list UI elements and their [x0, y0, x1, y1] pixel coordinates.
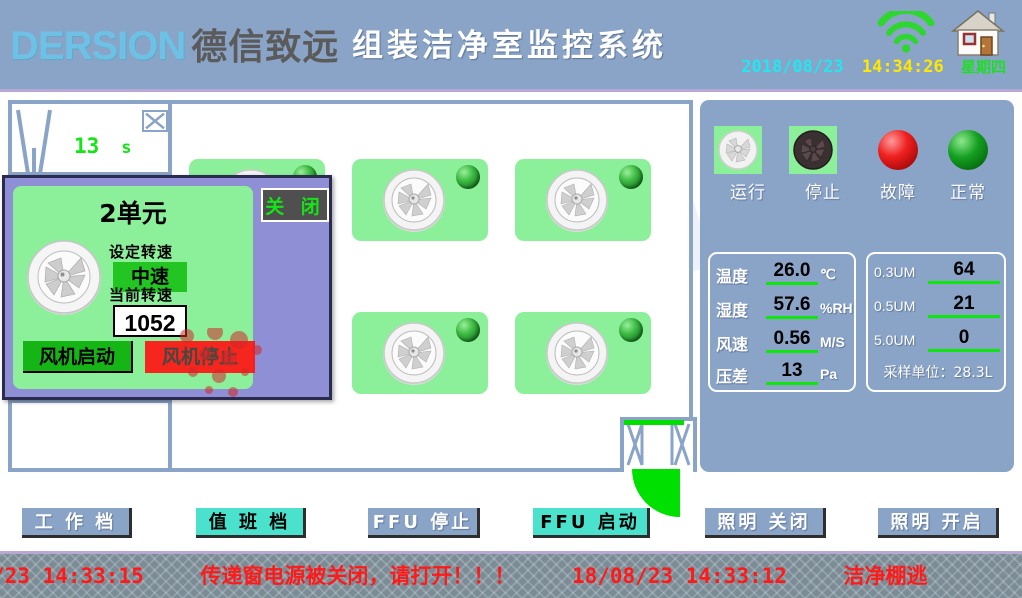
particle-label: 0.3UM [874, 264, 915, 280]
close-button[interactable]: 关 闭 [261, 188, 329, 222]
particle-value: 0 [928, 327, 1000, 352]
legend-item-stopped: 停止 [789, 126, 857, 203]
set-speed-label: 设定转速 [109, 241, 173, 262]
fan-dark-icon [789, 126, 837, 174]
lighting-on-button[interactable]: 照明 开启 [878, 508, 999, 538]
legend-label: 故障 [864, 178, 932, 203]
ffu-unit-2[interactable] [352, 159, 488, 241]
alarm-ticker[interactable]: /23 14:33:15 传递窗电源被关闭，请打开！！！ 18/08/23 14… [0, 551, 1022, 598]
brand-logo-cn: 德信致远 [191, 18, 339, 70]
door-leaf-icon [624, 421, 693, 468]
anteroom-bottom-left [12, 399, 172, 472]
countdown-value: 13 [74, 134, 99, 158]
fan-start-button[interactable]: 风机启动 [23, 341, 133, 373]
door-open-indicator [624, 420, 684, 425]
reading-row: 湿度 57.6 %RH [710, 292, 854, 326]
dialog-title: 2单元 [13, 194, 253, 230]
particle-value: 21 [928, 293, 1000, 318]
reading-label: 风速 [716, 331, 748, 355]
reading-label: 温度 [716, 263, 748, 287]
clock: 2018/08/23 14:34:26 星期四 [741, 56, 1006, 77]
particle-row: 5.0UM 0 [868, 326, 1004, 359]
ffu-unit-5[interactable] [352, 312, 488, 394]
environment-readings: 温度 26.0 ℃ 湿度 57.6 %RH 风速 0.56 M/S 压差 13 … [708, 252, 856, 392]
reading-row: 压差 13 Pa [710, 358, 854, 392]
brand-logo-en: DERSION [10, 24, 185, 69]
fan-icon [378, 164, 450, 236]
hmi-screen: DERSION 德信致远 组装洁净室监控系统 2018/08/23 14:34:… [0, 0, 1022, 598]
ffu-stop-button[interactable]: FFU 停止 [368, 508, 480, 538]
particle-label: 5.0UM [874, 332, 915, 348]
reading-value: 13 [766, 360, 818, 385]
fan-stop-button[interactable]: 风机停止 [145, 341, 255, 373]
fan-icon [541, 317, 613, 389]
particle-row: 0.3UM 64 [868, 258, 1004, 291]
legend-item-fault: 故障 [864, 126, 932, 203]
current-speed-row: 当前转速 1052 [109, 284, 253, 337]
lamp-red-icon [878, 130, 918, 170]
reading-row: 温度 26.0 ℃ [710, 258, 854, 292]
page-title: 组装洁净室监控系统 [352, 20, 667, 65]
dialog-body: 2单元 设定转速 中速 当前转速 1052 [13, 186, 253, 389]
reading-label: 压差 [716, 363, 748, 387]
reading-value: 26.0 [766, 260, 818, 285]
legend-label: 正常 [934, 178, 1002, 203]
door-frame [620, 417, 697, 472]
particle-row: 0.5UM 21 [868, 292, 1004, 325]
home-icon[interactable] [950, 8, 1006, 56]
current-speed-label: 当前转速 [109, 284, 173, 305]
status-led [456, 165, 480, 189]
ffu-unit-6[interactable] [515, 312, 651, 394]
work-mode-button[interactable]: 工 作 档 [22, 508, 132, 538]
ffu-start-button[interactable]: FFU 启动 [533, 508, 650, 538]
fan-icon [378, 317, 450, 389]
reading-unit: Pa [820, 366, 837, 382]
fan-icon [21, 234, 107, 320]
legend: 运行 停止 故障 [712, 126, 1004, 218]
reading-unit: M/S [820, 334, 845, 350]
particle-value: 64 [928, 259, 1000, 284]
duty-mode-button[interactable]: 值 班 档 [196, 508, 306, 538]
reading-row: 风速 0.56 M/S [710, 326, 854, 360]
particle-label: 0.5UM [874, 298, 915, 314]
reading-value: 57.6 [766, 294, 818, 319]
clock-date: 2018/08/23 [741, 57, 843, 77]
current-speed-value: 1052 [113, 305, 187, 337]
ffu-unit-3[interactable] [515, 159, 651, 241]
alarm-ticker-line: /23 14:33:15 传递窗电源被关闭，请打开！！！ 18/08/23 14… [0, 560, 928, 590]
fan-white-icon [714, 126, 762, 174]
legend-item-normal: 正常 [934, 126, 1002, 203]
sample-unit-label: 采样单位：28.3L [872, 362, 1004, 382]
status-led [619, 165, 643, 189]
countdown-unit: s [121, 138, 131, 158]
legend-label: 运行 [714, 178, 782, 203]
valve-x-icon[interactable] [142, 110, 168, 132]
reading-unit: %RH [820, 300, 853, 316]
reading-label: 湿度 [716, 297, 748, 321]
ffu-detail-dialog: 2单元 设定转速 中速 当前转速 1052 [2, 175, 332, 400]
fan-icon [541, 164, 613, 236]
status-panel: 运行 停止 故障 [700, 100, 1014, 472]
legend-label: 停止 [789, 178, 857, 203]
clock-time: 14:34:26 [862, 57, 944, 77]
lighting-off-button[interactable]: 照明 关闭 [705, 508, 826, 538]
alarm-1-text: 传递窗电源被关闭，请打开！！！ [200, 564, 515, 588]
status-led [456, 318, 480, 342]
command-button-bar: 工 作 档 值 班 档 FFU 停止 FFU 启动 照明 关闭 照明 开启 [0, 478, 1022, 548]
status-led [619, 318, 643, 342]
brand-logo: DERSION 德信致远 [10, 18, 339, 70]
legend-item-running: 运行 [714, 126, 782, 203]
countdown-timer: 13s [74, 134, 132, 158]
alarm-2-text: 洁净棚逃 [844, 564, 928, 588]
alarm-2-time: 18/08/23 14:33:12 [572, 564, 787, 588]
particle-readings: 0.3UM 64 0.5UM 21 5.0UM 0 采样单位：28.3L [866, 252, 1006, 392]
wifi-icon [877, 11, 935, 53]
reading-value: 0.56 [766, 328, 818, 353]
clock-weekday: 星期四 [961, 58, 1006, 76]
alarm-1-time: /23 14:33:15 [0, 564, 144, 588]
reading-unit: ℃ [820, 266, 836, 283]
app-header: DERSION 德信致远 组装洁净室监控系统 2018/08/23 14:34:… [0, 0, 1022, 92]
lamp-green-icon [948, 130, 988, 170]
